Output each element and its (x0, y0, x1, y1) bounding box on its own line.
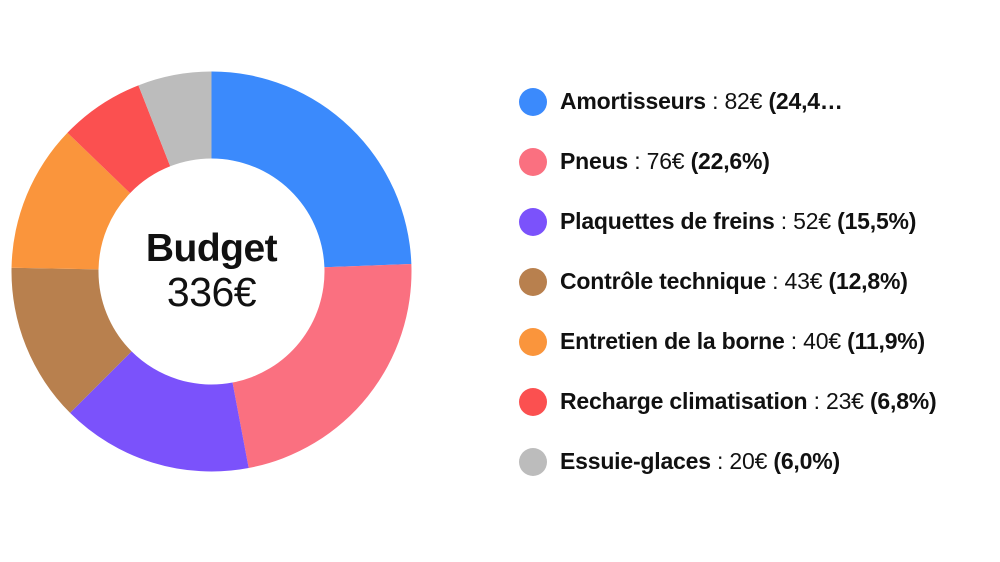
legend-item-separator: : (711, 448, 730, 474)
legend-swatch-icon (519, 208, 547, 236)
legend-swatch-icon (519, 268, 547, 296)
legend-item-separator: : (706, 88, 725, 114)
legend-item-essuie-glaces[interactable]: Essuie-glaces : 20€ (6,0%) (519, 432, 989, 492)
legend-item-text: Contrôle technique : 43€ (12,8%) (560, 268, 908, 296)
legend-item-recharge-climatisation[interactable]: Recharge climatisation : 23€ (6,8%) (519, 372, 989, 432)
legend-item-label: Amortisseurs (560, 88, 706, 114)
legend-item-value: 40€ (803, 328, 841, 354)
legend-item-controle-technique[interactable]: Contrôle technique : 43€ (12,8%) (519, 252, 989, 312)
legend-item-entretien-de-la-borne[interactable]: Entretien de la borne : 40€ (11,9%) (519, 312, 989, 372)
legend-item-text: Entretien de la borne : 40€ (11,9%) (560, 328, 925, 356)
legend-item-percent: (11,9%) (841, 328, 925, 354)
donut-slice-pneus[interactable] (233, 264, 412, 468)
legend-item-value: 23€ (826, 388, 864, 414)
legend-swatch-icon (519, 148, 547, 176)
legend-item-label: Essuie-glaces (560, 448, 711, 474)
legend-item-label: Plaquettes de freins (560, 208, 775, 234)
legend-item-value: 20€ (729, 448, 767, 474)
legend-item-separator: : (628, 148, 647, 174)
legend-item-percent: (12,8%) (822, 268, 907, 294)
legend-item-label: Entretien de la borne (560, 328, 785, 354)
legend-item-separator: : (807, 388, 826, 414)
legend-item-value: 76€ (647, 148, 685, 174)
legend-item-percent: (6,0%) (767, 448, 840, 474)
legend-item-text: Amortisseurs : 82€ (24,4… (560, 88, 843, 116)
legend-item-value: 82€ (724, 88, 762, 114)
legend-item-separator: : (766, 268, 785, 294)
legend-swatch-icon (519, 388, 547, 416)
donut-chart-area: Budget 336€ (11, 71, 412, 472)
donut-slice-group (11, 72, 411, 472)
legend-item-label: Pneus (560, 148, 628, 174)
legend-item-text: Pneus : 76€ (22,6%) (560, 148, 770, 176)
donut-chart-svg (11, 71, 412, 472)
legend-item-amortisseurs[interactable]: Amortisseurs : 82€ (24,4… (519, 72, 989, 132)
legend-item-value: 43€ (785, 268, 823, 294)
legend-swatch-icon (519, 328, 547, 356)
legend-item-percent: (15,5%) (831, 208, 916, 234)
legend-item-separator: : (775, 208, 794, 234)
legend-item-label: Contrôle technique (560, 268, 766, 294)
legend-item-pneus[interactable]: Pneus : 76€ (22,6%) (519, 132, 989, 192)
legend-item-separator: : (785, 328, 804, 354)
donut-slice-amortisseurs[interactable] (212, 72, 412, 268)
legend-item-percent: (24,4… (762, 88, 842, 114)
legend-item-value: 52€ (793, 208, 831, 234)
legend-item-percent: (22,6%) (684, 148, 769, 174)
legend-item-text: Plaquettes de freins : 52€ (15,5%) (560, 208, 916, 236)
legend-item-label: Recharge climatisation (560, 388, 807, 414)
legend-item-plaquettes-de-freins[interactable]: Plaquettes de freins : 52€ (15,5%) (519, 192, 989, 252)
legend-item-text: Recharge climatisation : 23€ (6,8%) (560, 388, 937, 416)
legend-swatch-icon (519, 88, 547, 116)
budget-donut-chart: Budget 336€ Amortisseurs : 82€ (24,4…Pne… (0, 0, 1000, 562)
chart-legend: Amortisseurs : 82€ (24,4…Pneus : 76€ (22… (519, 72, 989, 492)
legend-swatch-icon (519, 448, 547, 476)
legend-item-text: Essuie-glaces : 20€ (6,0%) (560, 448, 840, 476)
legend-item-percent: (6,8%) (864, 388, 937, 414)
